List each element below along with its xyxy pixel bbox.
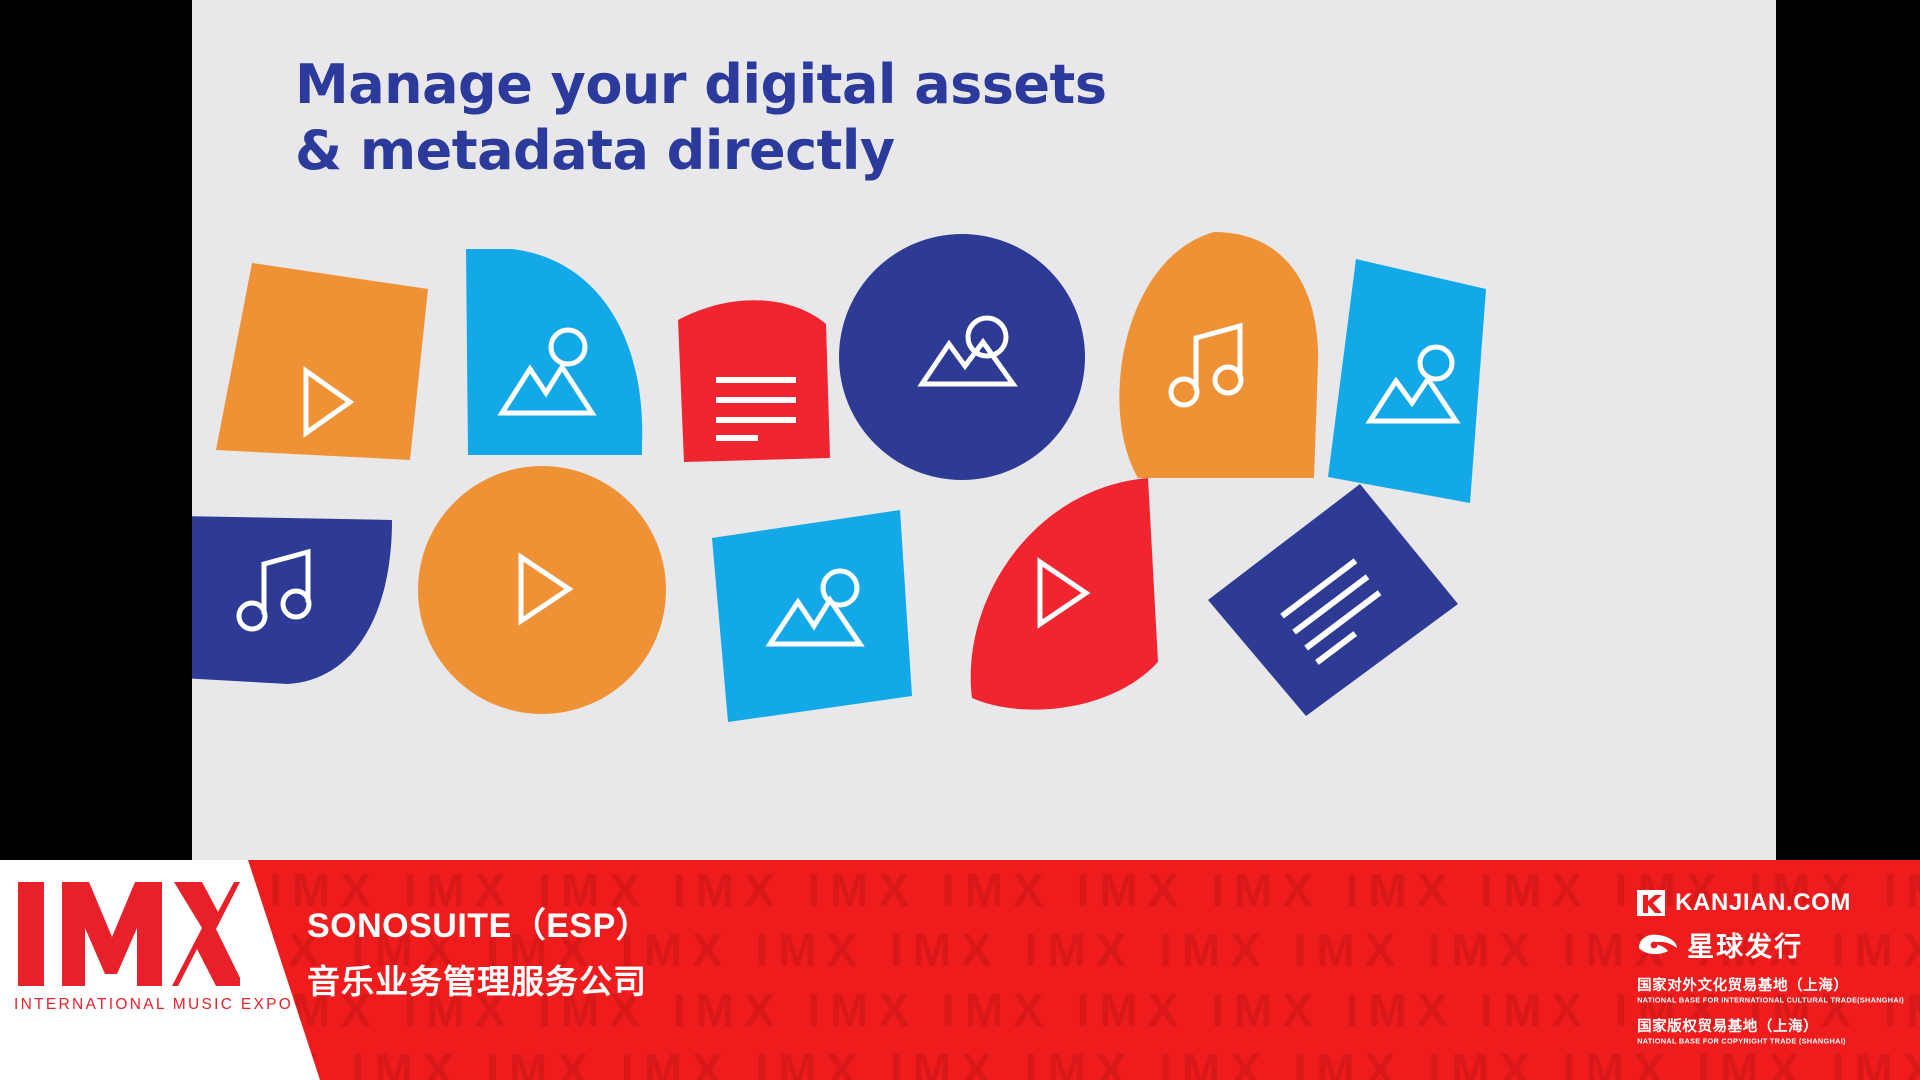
imx-tagline: INTERNATIONAL MUSIC EXPO (14, 996, 240, 1014)
tile-image-cyan-1 (446, 245, 656, 460)
kanjian-mark-icon (1637, 888, 1667, 918)
session-description: 音乐业务管理服务公司 (307, 955, 650, 1003)
kanjian-label: KANJIAN.COM (1675, 889, 1851, 917)
base-cultural-trade-en: NATIONAL BASE FOR INTERNATIONAL CULTURAL… (1637, 996, 1904, 1005)
asset-tile-grid (192, 0, 1776, 862)
xingqiu-mark-icon (1637, 932, 1679, 958)
tile-play-red-1 (962, 462, 1162, 722)
session-company-name: SONOSUITE（ESP） (307, 898, 650, 947)
imx-wordmark-icon (14, 878, 240, 990)
sponsor-logos: KANJIAN.COM 星球发行 国家对外文化贸易基地（上海） NATIONAL… (1637, 888, 1904, 1046)
slide-video-area[interactable]: Manage your digital assets & metadata di… (192, 0, 1776, 862)
tile-image-navy-1 (837, 232, 1087, 482)
tile-play-orange-2 (417, 465, 667, 715)
base-cultural-trade: 国家对外文化贸易基地（上海） NATIONAL BASE FOR INTERNA… (1637, 974, 1904, 1005)
base-copyright-trade-cn: 国家版权贸易基地（上海） (1637, 1015, 1846, 1036)
screen: Manage your digital assets & metadata di… (0, 0, 1920, 1080)
tile-text-navy-1 (1202, 480, 1462, 720)
tile-text-red-1 (660, 272, 838, 472)
base-cultural-trade-cn: 国家对外文化贸易基地（上海） (1637, 974, 1904, 995)
sponsor-xingqiu[interactable]: 星球发行 (1637, 925, 1803, 964)
lower-third-banner: IMX IMX IMX IMX IMX IMX IMX IMX IMX IMX … (0, 860, 1920, 1080)
session-info: SONOSUITE（ESP） 音乐业务管理服务公司 (307, 898, 650, 1003)
tile-play-orange-1 (210, 255, 430, 470)
base-copyright-trade-en: NATIONAL BASE FOR COPYRIGHT TRADE (SHANG… (1637, 1037, 1846, 1046)
imx-logo[interactable]: INTERNATIONAL MUSIC EXPO (14, 878, 240, 1014)
sponsor-kanjian[interactable]: KANJIAN.COM (1637, 888, 1851, 918)
base-copyright-trade: 国家版权贸易基地（上海） NATIONAL BASE FOR COPYRIGHT… (1637, 1015, 1846, 1046)
tile-music-navy-1 (192, 508, 402, 698)
tile-image-cyan-2 (1324, 253, 1502, 508)
xingqiu-label: 星球发行 (1687, 925, 1803, 964)
tile-image-cyan-3 (704, 500, 920, 725)
tile-music-orange-1 (1104, 230, 1322, 482)
